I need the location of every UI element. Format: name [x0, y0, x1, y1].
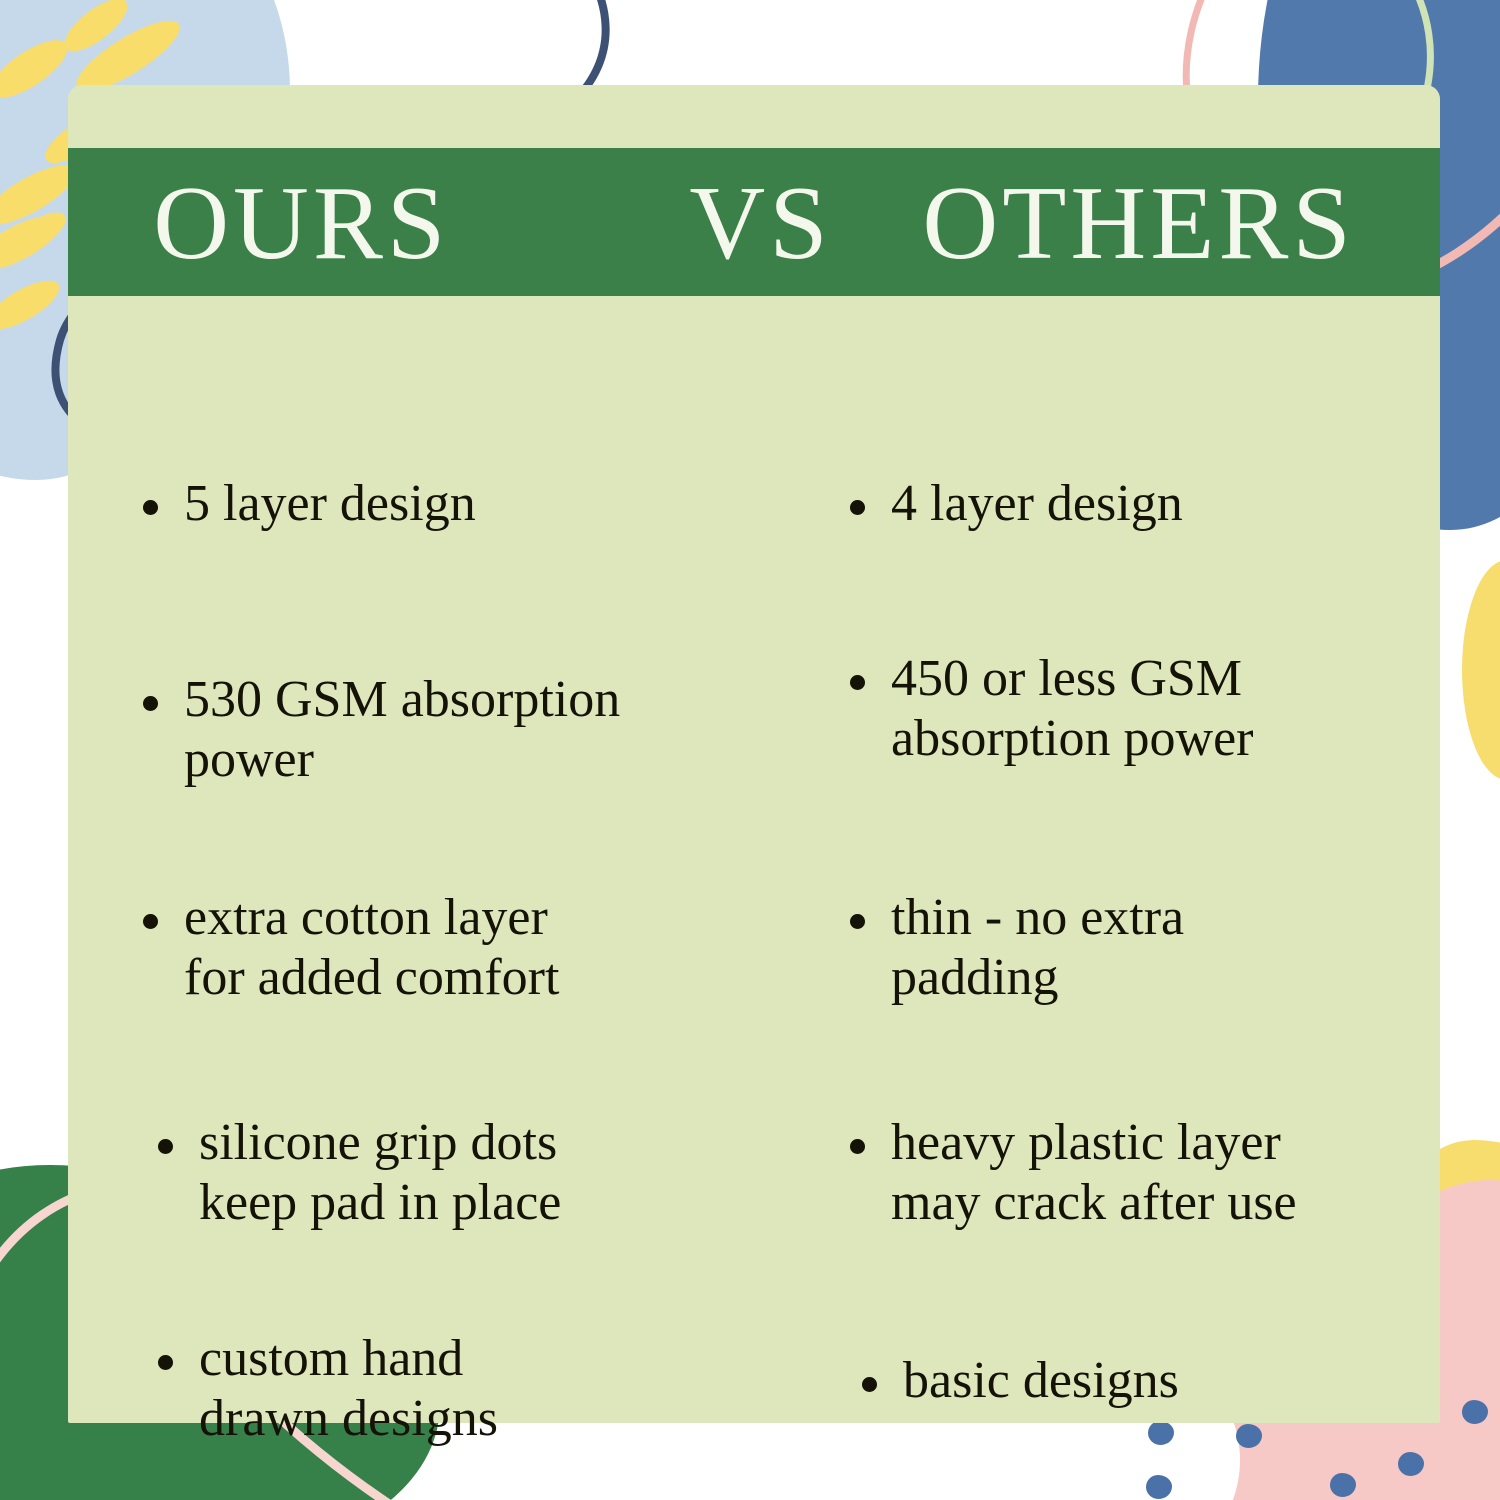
decorative-blue-dot	[1236, 1424, 1262, 1448]
bullet-dot-icon	[850, 914, 865, 929]
decorative-blob-yellow-right-edge	[1462, 560, 1500, 780]
list-item-label: 5 layer design	[184, 474, 476, 534]
decorative-yellow-dash	[57, 0, 135, 60]
list-item-label: custom hand drawn designs	[199, 1329, 498, 1450]
list-item-label: extra cotton layer for added comfort	[184, 888, 559, 1009]
list-item-label: silicone grip dots keep pad in place	[199, 1113, 561, 1234]
bullet-dot-icon	[850, 1139, 865, 1154]
bullet-dot-icon	[143, 500, 158, 515]
decorative-blue-dot	[1146, 1475, 1172, 1499]
list-item: heavy plastic layer may crack after use	[850, 1113, 1440, 1234]
list-item-label: 530 GSM absorption power	[184, 670, 620, 791]
bullet-dot-icon	[158, 1139, 173, 1154]
list-item: 450 or less GSM absorption power	[850, 649, 1430, 770]
bullet-dot-icon	[158, 1355, 173, 1370]
bullet-dot-icon	[862, 1377, 877, 1392]
list-item: silicone grip dots keep pad in place	[158, 1113, 738, 1234]
decorative-blue-dot	[1462, 1400, 1488, 1424]
list-item-label: 4 layer design	[891, 474, 1183, 534]
column-others: 4 layer design 450 or less GSM absorptio…	[754, 296, 1440, 1423]
page-title: OURS VS OTHERS	[153, 170, 1355, 275]
list-item: basic designs	[862, 1351, 1422, 1411]
decorative-blue-dot	[1148, 1421, 1174, 1445]
list-item: thin - no extra padding	[850, 888, 1430, 1009]
infographic-canvas: OURS VS OTHERS 5 layer design 530 GSM ab…	[0, 0, 1500, 1500]
list-item: custom hand drawn designs	[158, 1329, 738, 1450]
decorative-yellow-dash	[0, 272, 66, 339]
column-ours: 5 layer design 530 GSM absorption power …	[68, 296, 754, 1423]
bullet-dot-icon	[143, 696, 158, 711]
list-item-label: basic designs	[903, 1351, 1179, 1411]
decorative-yellow-dash	[0, 30, 76, 109]
list-item: 530 GSM absorption power	[143, 670, 723, 791]
comparison-card: OURS VS OTHERS 5 layer design 530 GSM ab…	[68, 85, 1440, 1423]
decorative-blue-dot	[1330, 1473, 1356, 1497]
decorative-blue-dot	[1398, 1452, 1424, 1476]
bullet-dot-icon	[143, 914, 158, 929]
list-item-label: thin - no extra padding	[891, 888, 1184, 1009]
list-item-label: 450 or less GSM absorption power	[891, 649, 1253, 770]
bullet-dot-icon	[850, 500, 865, 515]
header-banner: OURS VS OTHERS	[68, 148, 1440, 296]
list-item: 5 layer design	[143, 474, 703, 534]
comparison-columns: 5 layer design 530 GSM absorption power …	[68, 296, 1440, 1423]
decorative-yellow-dash	[0, 205, 68, 280]
list-item-label: heavy plastic layer may crack after use	[891, 1113, 1297, 1234]
list-item: 4 layer design	[850, 474, 1410, 534]
list-item: extra cotton layer for added comfort	[143, 888, 723, 1009]
bullet-dot-icon	[850, 675, 865, 690]
decorative-yellow-dash	[4, 205, 72, 262]
